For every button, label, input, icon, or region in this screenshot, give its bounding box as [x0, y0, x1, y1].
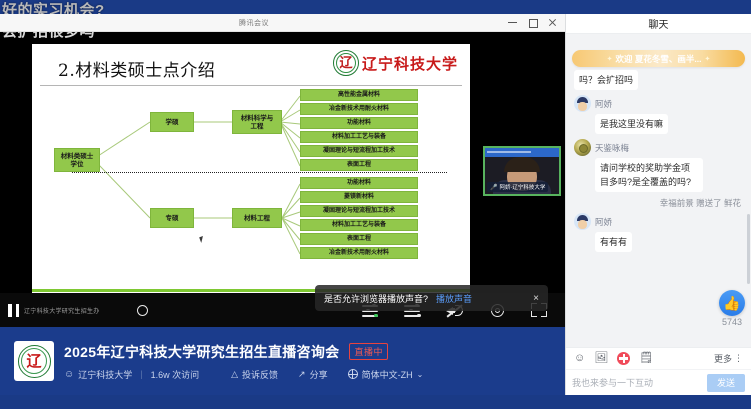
message-text: 有有有: [595, 232, 632, 252]
welcome-text: 欢迎 夏花冬雪、画半...: [616, 53, 702, 65]
branch-box: 凝固理论与短流程加工技术: [300, 145, 418, 157]
list-item: 阿娇 有有有: [574, 213, 743, 252]
university-name-calligraphy: 辽宁科技大学: [362, 53, 458, 74]
person-icon: ☺: [64, 369, 74, 380]
system-message: 幸福前景 赠送了 鲜花: [574, 197, 743, 209]
like-button-group: 👍 5743: [719, 290, 745, 327]
seal-char: 辽: [26, 354, 41, 369]
message-text: 是我这里没有嘛: [595, 114, 668, 134]
live-indicator-icon: [137, 305, 148, 316]
pip-name-text: 阿娇·辽宁科技大学: [499, 183, 545, 191]
pip-name-label: 🎤 阿娇·辽宁科技大学: [487, 182, 548, 192]
meta-separator: |: [140, 369, 142, 379]
branch-box: 功能材料: [300, 117, 418, 129]
sparkle-icon: ✦: [607, 55, 613, 63]
play-sound-button[interactable]: 播放声音: [436, 292, 472, 305]
toast-close-icon[interactable]: ×: [533, 293, 539, 304]
branch-box: 冶金新技术用耐火材料: [300, 103, 418, 115]
chat-input[interactable]: [572, 374, 703, 392]
clipboard-icon[interactable]: 🗒: [639, 353, 653, 364]
message-author: 阿娇: [595, 216, 612, 228]
toast-message: 是否允许浏览器播放声音?: [324, 292, 428, 305]
sparkle-icon: ✦: [704, 55, 710, 63]
chevron-down-icon: ⌄: [417, 370, 424, 379]
thumbs-up-icon[interactable]: 👍: [719, 290, 745, 316]
stream-actions: △ 投诉反馈 ↗ 分享 简体中文-ZH ⌄: [231, 368, 423, 381]
report-feedback-button[interactable]: △ 投诉反馈: [231, 368, 278, 381]
list-item: 天鉴咏梅 请问学校的奖助学金项目多吗?是全覆盖的吗?: [574, 139, 743, 192]
stream-info-main: 2025年辽宁科技大学研究生招生直播咨询会 直播中 ☺ 辽宁科技大学 | 1.6…: [64, 342, 423, 381]
chat-scrollbar[interactable]: [747, 214, 750, 284]
avatar: [574, 95, 591, 112]
stream-title-row: 2025年辽宁科技大学研究生招生直播咨询会 直播中: [64, 342, 423, 362]
status-badge: 直播中: [349, 343, 388, 360]
list-item: 吗？会扩招吗: [574, 70, 743, 90]
window-titlebar: 腾讯会议: [0, 14, 565, 32]
minimize-icon[interactable]: [508, 18, 517, 27]
chat-message-list[interactable]: ✦ 欢迎 夏花冬雪、画半... ✦ 吗？会扩招吗 阿娇 是我这里没有嘛 天鉴咏梅: [566, 34, 751, 347]
mic-icon: 🎤: [490, 184, 497, 191]
chat-toolbar: ☺ 🖼 🗒 更多 ⋮: [566, 347, 751, 369]
more-dots-icon: ⋮: [734, 353, 743, 364]
welcome-banner: ✦ 欢迎 夏花冬雪、画半... ✦: [572, 50, 745, 67]
node-materials-engineering: 材料工程: [232, 208, 282, 228]
globe-icon: [348, 369, 358, 379]
share-button[interactable]: ↗ 分享: [298, 368, 328, 381]
message-header: 天鉴咏梅: [574, 139, 743, 156]
stream-meta-row: ☺ 辽宁科技大学 | 1.6w 次访问 △ 投诉反馈 ↗ 分享: [64, 368, 423, 381]
image-icon[interactable]: 🖼: [594, 353, 608, 364]
presenter-video-thumbnail[interactable]: 🎤 阿娇·辽宁科技大学: [483, 146, 561, 196]
more-options-button[interactable]: 更多 ⋮: [714, 352, 743, 365]
chat-input-row: 发送: [566, 369, 751, 395]
branch-box: 表面工程: [300, 233, 418, 245]
sound-permission-toast: 是否允许浏览器播放声音? 播放声音 ×: [315, 285, 548, 311]
warning-icon: △: [231, 369, 238, 380]
report-feedback-label: 投诉反馈: [242, 368, 278, 381]
chat-header: 聊天: [566, 14, 751, 34]
branch-box: 凝固理论与短流程加工技术: [300, 205, 418, 217]
node-academic: 学硕: [150, 112, 194, 132]
university-logo: 辽: [14, 341, 54, 381]
message-text: 请问学校的奖助学金项目多吗?是全覆盖的吗?: [595, 158, 703, 192]
gift-icon[interactable]: [617, 352, 630, 365]
node-materials-science: 材料科学与 工程: [232, 110, 282, 134]
stream-name-label: 辽宁科技大学研究生招生办: [24, 306, 100, 315]
send-button[interactable]: 发送: [707, 374, 745, 392]
like-count: 5743: [722, 317, 742, 327]
share-label: 分享: [310, 368, 328, 381]
page-title: 2025年辽宁科技大学研究生招生直播咨询会: [64, 342, 339, 362]
presentation-slide: 2.材料类硕士点介绍 辽 辽宁科技大学: [32, 44, 470, 301]
node-root: 材料类硕士 学位: [54, 148, 100, 172]
slide-university-logo: 辽 辽宁科技大学: [333, 50, 458, 76]
university-seal-icon: 辽: [333, 50, 359, 76]
message-author: 阿娇: [595, 98, 612, 110]
message-header: 阿娇: [574, 95, 743, 112]
close-icon[interactable]: [548, 18, 557, 27]
branch-box: 冶金新技术用耐火材料: [300, 247, 418, 259]
branch-box: 菱镁新材料: [300, 191, 418, 203]
more-label: 更多: [714, 352, 732, 365]
slide-title: 2.材料类硕士点介绍: [58, 56, 215, 81]
host-info: ☺ 辽宁科技大学: [64, 368, 132, 381]
seal-char: 辽: [339, 57, 352, 70]
branch-box: 材料加工工艺与装备: [300, 131, 418, 143]
branch-box: 功能材料: [300, 177, 418, 189]
language-selector[interactable]: 简体中文-ZH ⌄: [348, 368, 424, 381]
live-stream-page: 好的实习机会? 会扩招很多吗 腾讯会议 2.材料类硕士点介绍 辽 辽宁科技大学: [0, 0, 751, 409]
video-stage[interactable]: 2.材料类硕士点介绍 辽 辽宁科技大学: [0, 32, 565, 327]
branch-box: 材料加工工艺与装备: [300, 219, 418, 231]
emoji-icon[interactable]: ☺: [574, 353, 585, 364]
slide-diagram: 材料类硕士 学位 学硕 专硕 材料科学与 工程 材料工程 高性能金属材料 冶金新…: [32, 88, 470, 298]
maximize-icon[interactable]: [528, 18, 537, 27]
player-left-controls: 辽宁科技大学研究生招生办: [8, 304, 148, 317]
chat-panel: 聊天 ✦ 欢迎 夏花冬雪、画半... ✦ 吗？会扩招吗 阿娇 是我这里没有嘛: [565, 14, 751, 395]
window-controls: [508, 18, 565, 27]
message-text: 吗？会扩招吗: [574, 70, 638, 90]
message-author: 天鉴咏梅: [595, 142, 629, 154]
branch-box: 表面工程: [300, 159, 418, 171]
branch-box: 高性能金属材料: [300, 89, 418, 101]
view-count: 1.6w 次访问: [151, 368, 200, 381]
node-professional: 专硕: [150, 208, 194, 228]
pip-screen-header: [485, 148, 559, 157]
message-header: 阿娇: [574, 213, 743, 230]
stream-info-bar: 辽 2025年辽宁科技大学研究生招生直播咨询会 直播中 ☺ 辽宁科技大学 | 1…: [0, 327, 565, 395]
language-label: 简体中文-ZH: [362, 368, 413, 381]
window-title: 腾讯会议: [0, 18, 508, 28]
share-icon: ↗: [298, 369, 306, 380]
host-name: 辽宁科技大学: [78, 368, 132, 381]
slide-header: 2.材料类硕士点介绍 辽 辽宁科技大学: [40, 48, 462, 86]
university-seal-icon: 辽: [18, 345, 51, 378]
pause-icon[interactable]: [8, 304, 19, 317]
page-bottom-strip: [0, 395, 751, 409]
diagram-divider: [72, 172, 447, 173]
list-item: 阿娇 是我这里没有嘛: [574, 95, 743, 134]
avatar: [574, 213, 591, 230]
avatar: [574, 139, 591, 156]
